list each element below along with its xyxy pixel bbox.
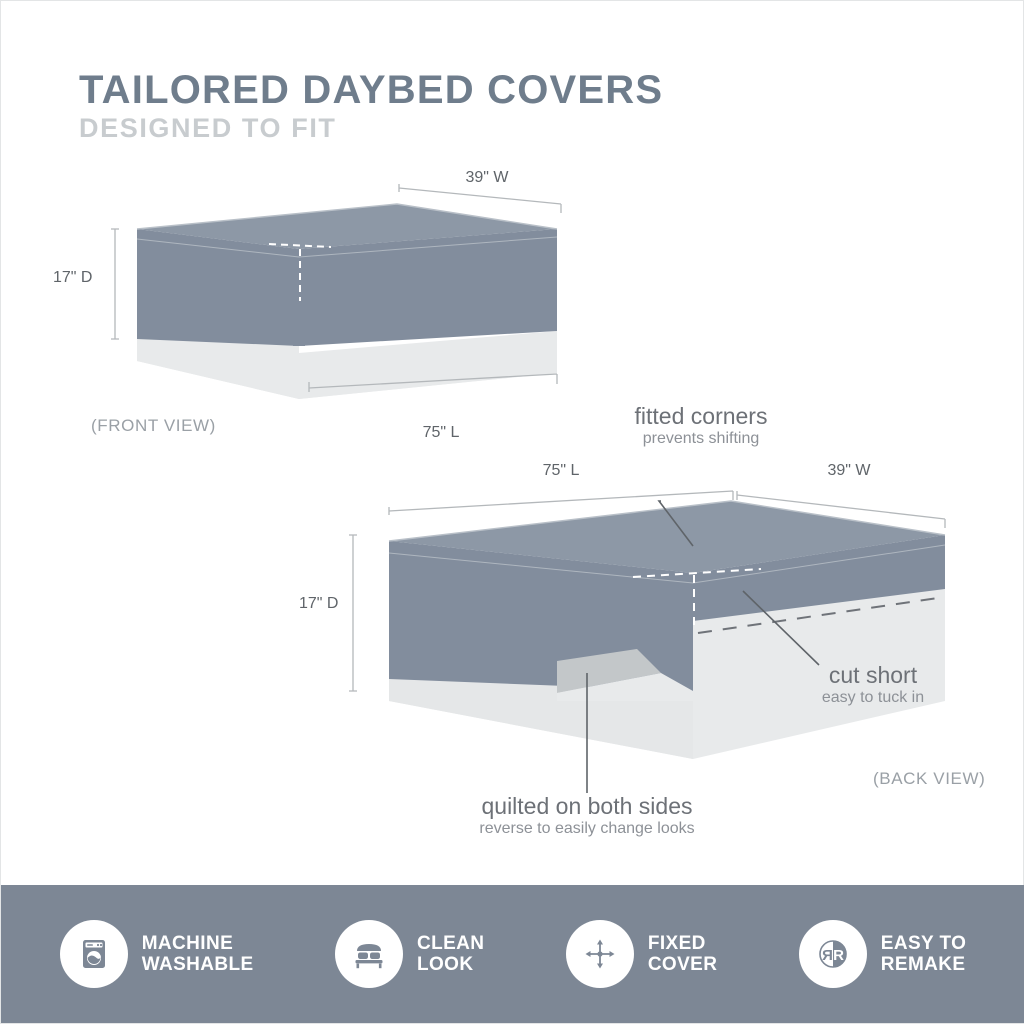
front-view-base [137,301,299,399]
feature-fixed-cover-line2: COVER [648,954,718,975]
feature-easy-to-remake-line2: REMAKE [881,954,967,975]
front-view-diagram [111,184,561,399]
four-arrows-icon [579,933,621,975]
back-view-fold-flap [557,649,661,693]
front-view-width-dim-line [399,184,561,213]
callout-quilted-title: quilted on both sides [479,795,694,818]
back-view-width-label: 39" W [827,462,870,480]
feature-easy-to-remake: R R EASY TO REMAKE [799,920,967,988]
callout-cut-short-subtitle: easy to tuck in [822,689,924,707]
feature-fixed-cover: FIXED COVER [566,920,718,988]
back-view-length-label: 75" L [543,462,580,480]
reversible-r-icon-circle: R R [799,920,867,988]
front-view-length-dim-line [309,374,557,392]
bed-icon-circle [335,920,403,988]
back-view-tag: (BACK VIEW) [873,769,985,789]
back-view-diagram [349,491,945,793]
svg-text:R: R [833,947,844,964]
feature-fixed-cover-text: FIXED COVER [648,933,718,976]
callout-cut-short-title: cut short [822,664,924,687]
back-view-corner-stitch-horizontal [633,569,761,577]
illustration-stage [1,1,1024,1025]
feature-clean-look-line2: LOOK [417,954,484,975]
callout-fitted-corners-subtitle: prevents shifting [635,430,768,448]
front-view-base-block [137,331,557,399]
front-view-cover-long-face [137,229,299,346]
front-view-length-label: 75" L [423,424,460,442]
callout-cut-short: cut short easy to tuck in [822,664,924,707]
infographic-page: TAILORED DAYBED COVERS DESIGNED TO FIT [0,0,1024,1024]
feature-clean-look: CLEAN LOOK [335,920,484,988]
leader-line-fitted-corners [659,501,693,546]
back-view-top-seam [389,545,945,583]
back-view-cover-hem-notch [557,673,693,701]
feature-bar: MACHINE WASHABLE CLEAN LOOK [1,885,1024,1023]
back-view-cover-top [389,501,945,573]
feature-machine-washable: MACHINE WASHABLE [60,920,254,988]
front-view-base-left [137,301,299,384]
feature-machine-washable-line2: WASHABLE [142,954,254,975]
page-title: TAILORED DAYBED COVERS [79,69,779,111]
feature-machine-washable-text: MACHINE WASHABLE [142,933,254,976]
feature-machine-washable-line1: MACHINE [142,933,254,954]
back-view-cover-long-face [389,541,693,691]
callout-quilted-subtitle: reverse to easily change looks [479,820,694,838]
reversible-r-icon: R R [812,933,854,975]
back-view-top-edge-highlight [389,501,945,541]
svg-text:R: R [822,947,833,964]
feature-clean-look-line1: CLEAN [417,933,484,954]
back-view-depth-label: 17" D [299,595,338,613]
front-view-corner-stitch-horizontal [269,244,331,247]
front-view-corner-round [293,249,305,346]
bed-icon [348,933,390,975]
front-view-width-label: 39" W [465,169,508,187]
front-view-base-front [299,331,557,399]
leader-line-cut-short [743,591,819,665]
back-view-cut-short-stitch-line [698,597,945,633]
back-view-cover-short-face [693,535,945,621]
front-view-top-seam [137,237,557,257]
feature-easy-to-remake-line1: EASY TO [881,933,967,954]
feature-fixed-cover-line1: FIXED [648,933,718,954]
back-view-length-dim-line [389,491,733,515]
header: TAILORED DAYBED COVERS DESIGNED TO FIT [79,69,779,144]
front-view-cover-top [137,204,557,249]
callout-fitted-corners-title: fitted corners [635,405,768,428]
callout-fitted-corners: fitted corners prevents shifting [635,405,768,448]
callout-quilted: quilted on both sides reverse to easily … [479,795,694,838]
front-view-depth-label: 17" D [53,269,92,287]
feature-easy-to-remake-text: EASY TO REMAKE [881,933,967,976]
four-arrows-icon-circle [566,920,634,988]
back-view-base-block [389,561,945,759]
front-view-depth-dim-line [111,229,119,339]
feature-clean-look-text: CLEAN LOOK [417,933,484,976]
back-view-base-left-face [389,567,693,759]
washing-machine-icon [74,934,114,974]
front-view-tag: (FRONT VIEW) [91,416,216,436]
front-view-cover-short-face [299,229,557,346]
back-view-width-dim-line [737,491,945,528]
page-subtitle: DESIGNED TO FIT [79,113,779,144]
washing-machine-icon-circle [60,920,128,988]
back-view-depth-dim-line [349,535,357,691]
front-view-top-edge-highlight [137,204,557,229]
